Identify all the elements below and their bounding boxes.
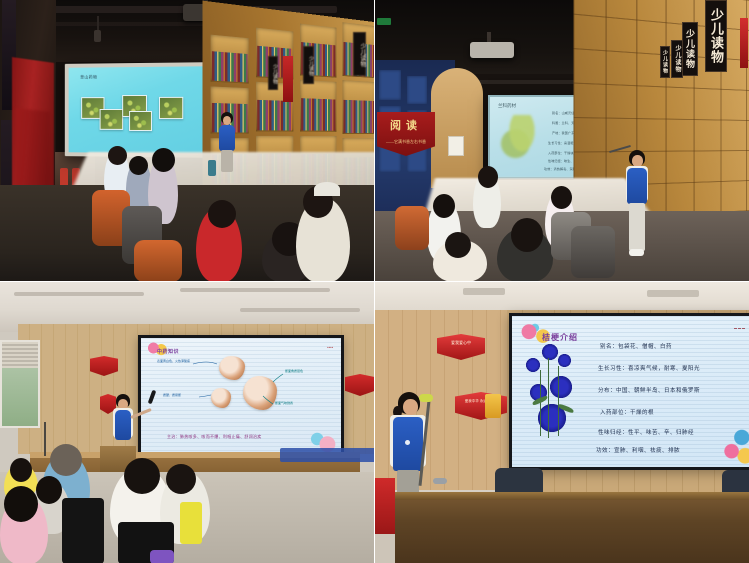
shelf-sign: 少儿读物 bbox=[705, 0, 727, 72]
audience-head bbox=[4, 486, 38, 522]
supply-boxes bbox=[280, 448, 374, 462]
slide-row: 性味归经：性平、味苦、辛、归肺经 bbox=[598, 428, 694, 436]
audience-head bbox=[36, 476, 62, 504]
presenter bbox=[218, 112, 236, 172]
wall-decoration-text: 爱我爱心中 bbox=[437, 340, 485, 346]
slide-title: 兰科药材 bbox=[498, 103, 516, 109]
shelf-sign: 少儿读物 bbox=[660, 46, 670, 78]
ceiling-panel bbox=[14, 292, 144, 296]
presenter-volunteer bbox=[625, 150, 649, 260]
spotlight-arm bbox=[97, 16, 99, 30]
panel-bottom-left: 中药知识 ●●●● 表面黄白色，火热泽酸痛 质硬、质易断 断面角质层色 断面气味… bbox=[0, 282, 374, 563]
slide-flower-illustration bbox=[524, 340, 586, 452]
hair-bow bbox=[314, 182, 340, 196]
audience-head bbox=[166, 464, 196, 494]
slide-row: 分布：中国、朝鲜半岛、日本和俄罗斯 bbox=[598, 386, 700, 394]
projection-screen: 草山药物 bbox=[69, 66, 212, 154]
chair-back bbox=[62, 498, 104, 563]
wall-decoration-accent bbox=[485, 394, 501, 418]
window bbox=[0, 340, 40, 428]
child-head bbox=[478, 166, 498, 188]
spotlight bbox=[94, 30, 101, 42]
purple-item bbox=[150, 550, 174, 563]
water-bottle bbox=[208, 160, 216, 176]
panel-top-right: 阅读 ——它满书香左右书香 兰科药材 别名：山威灵仙、紫兰、兰草 科属：兰科、天… bbox=[375, 0, 749, 281]
notice-paper bbox=[448, 136, 464, 156]
speaker bbox=[112, 394, 134, 456]
led-display: 中药知识 ●●●● 表面黄白色，火热泽酸痛 质硬、质易断 断面角质层色 断面气味… bbox=[138, 335, 344, 455]
exit-sign bbox=[377, 18, 391, 25]
panel-top-left: 草山药物 少儿读物 少儿读物 少儿读物 bbox=[0, 0, 374, 281]
child-head bbox=[129, 156, 148, 175]
child-head bbox=[511, 218, 543, 252]
mic-stand bbox=[44, 422, 46, 456]
chair bbox=[571, 226, 615, 278]
pointer-tip bbox=[419, 394, 433, 402]
chair bbox=[134, 240, 182, 281]
banner-title: 阅读 bbox=[377, 117, 435, 133]
red-hanging-decor bbox=[283, 56, 293, 102]
presentation-desk bbox=[395, 492, 749, 563]
vest-badge bbox=[405, 440, 410, 445]
ceiling-vent bbox=[463, 288, 505, 295]
slide-row: 入药部位：干燥的根 bbox=[600, 408, 654, 416]
panel-bottom-right: 桔梗介绍 ▬▬▬ 别名：包袋花、僧帽、白药 生长习性：喜凉爽气候，耐寒、畟阳光 … bbox=[375, 282, 749, 563]
slide-thumbnail bbox=[100, 109, 124, 130]
slide-footer: 主治：肺热咳多、咳而不爆、利咽止痛、舒润治疾 bbox=[167, 434, 262, 440]
wood-archway bbox=[431, 68, 483, 188]
banner-subtitle: ——它满书香左右书香 bbox=[377, 139, 435, 145]
child-head bbox=[551, 186, 572, 209]
projector bbox=[470, 42, 514, 58]
child-head bbox=[152, 148, 175, 172]
shelf-sign: 少儿读物 bbox=[303, 46, 314, 84]
audience-head bbox=[124, 458, 160, 494]
child-head bbox=[433, 194, 455, 218]
ceiling-panel bbox=[240, 308, 360, 312]
child-head bbox=[108, 146, 127, 165]
slide-row: 别名：包袋花、僧帽、白药 bbox=[600, 342, 672, 350]
audience-head bbox=[50, 444, 82, 476]
desk-item bbox=[433, 478, 447, 484]
window-blind bbox=[2, 342, 38, 368]
slide-plant-illustration bbox=[500, 115, 544, 167]
slide-corner-decor bbox=[718, 419, 749, 465]
slide-thumbnail bbox=[129, 111, 152, 131]
slide-row: 功效：宣肺、利咽、祛痰、排脓 bbox=[596, 446, 680, 454]
projection-screen-frame: 草山药物 bbox=[65, 62, 216, 158]
audience-head bbox=[10, 458, 32, 482]
shelf-sign: 少儿读物 bbox=[353, 32, 366, 76]
slide-title: 草山药物 bbox=[80, 74, 97, 80]
ceiling-panel bbox=[180, 288, 330, 292]
child-head bbox=[208, 200, 236, 228]
presenter-volunteer bbox=[389, 392, 427, 504]
chair bbox=[395, 206, 429, 250]
shelf-sign: 少儿读物 bbox=[682, 22, 698, 76]
slide-thumbnail bbox=[159, 97, 183, 119]
red-hanging-decor bbox=[740, 18, 748, 68]
led-display: 桔梗介绍 ▬▬▬ 别名：包袋花、僧帽、白药 生长习性：喜凉爽气候，耐寒、畟阳光 … bbox=[509, 313, 749, 470]
shelf-sign: 少儿读物 bbox=[268, 56, 278, 90]
slide-watermark: ▬▬▬ bbox=[734, 326, 746, 330]
photo-collage: 草山药物 少儿读物 少儿读物 少儿读物 bbox=[0, 0, 749, 563]
child-head bbox=[445, 232, 471, 258]
ceiling-vent bbox=[647, 290, 699, 297]
yellow-folder bbox=[180, 502, 202, 544]
slide-row: 生长习性：喜凉爽气候，耐寒、畟阳光 bbox=[598, 364, 700, 372]
